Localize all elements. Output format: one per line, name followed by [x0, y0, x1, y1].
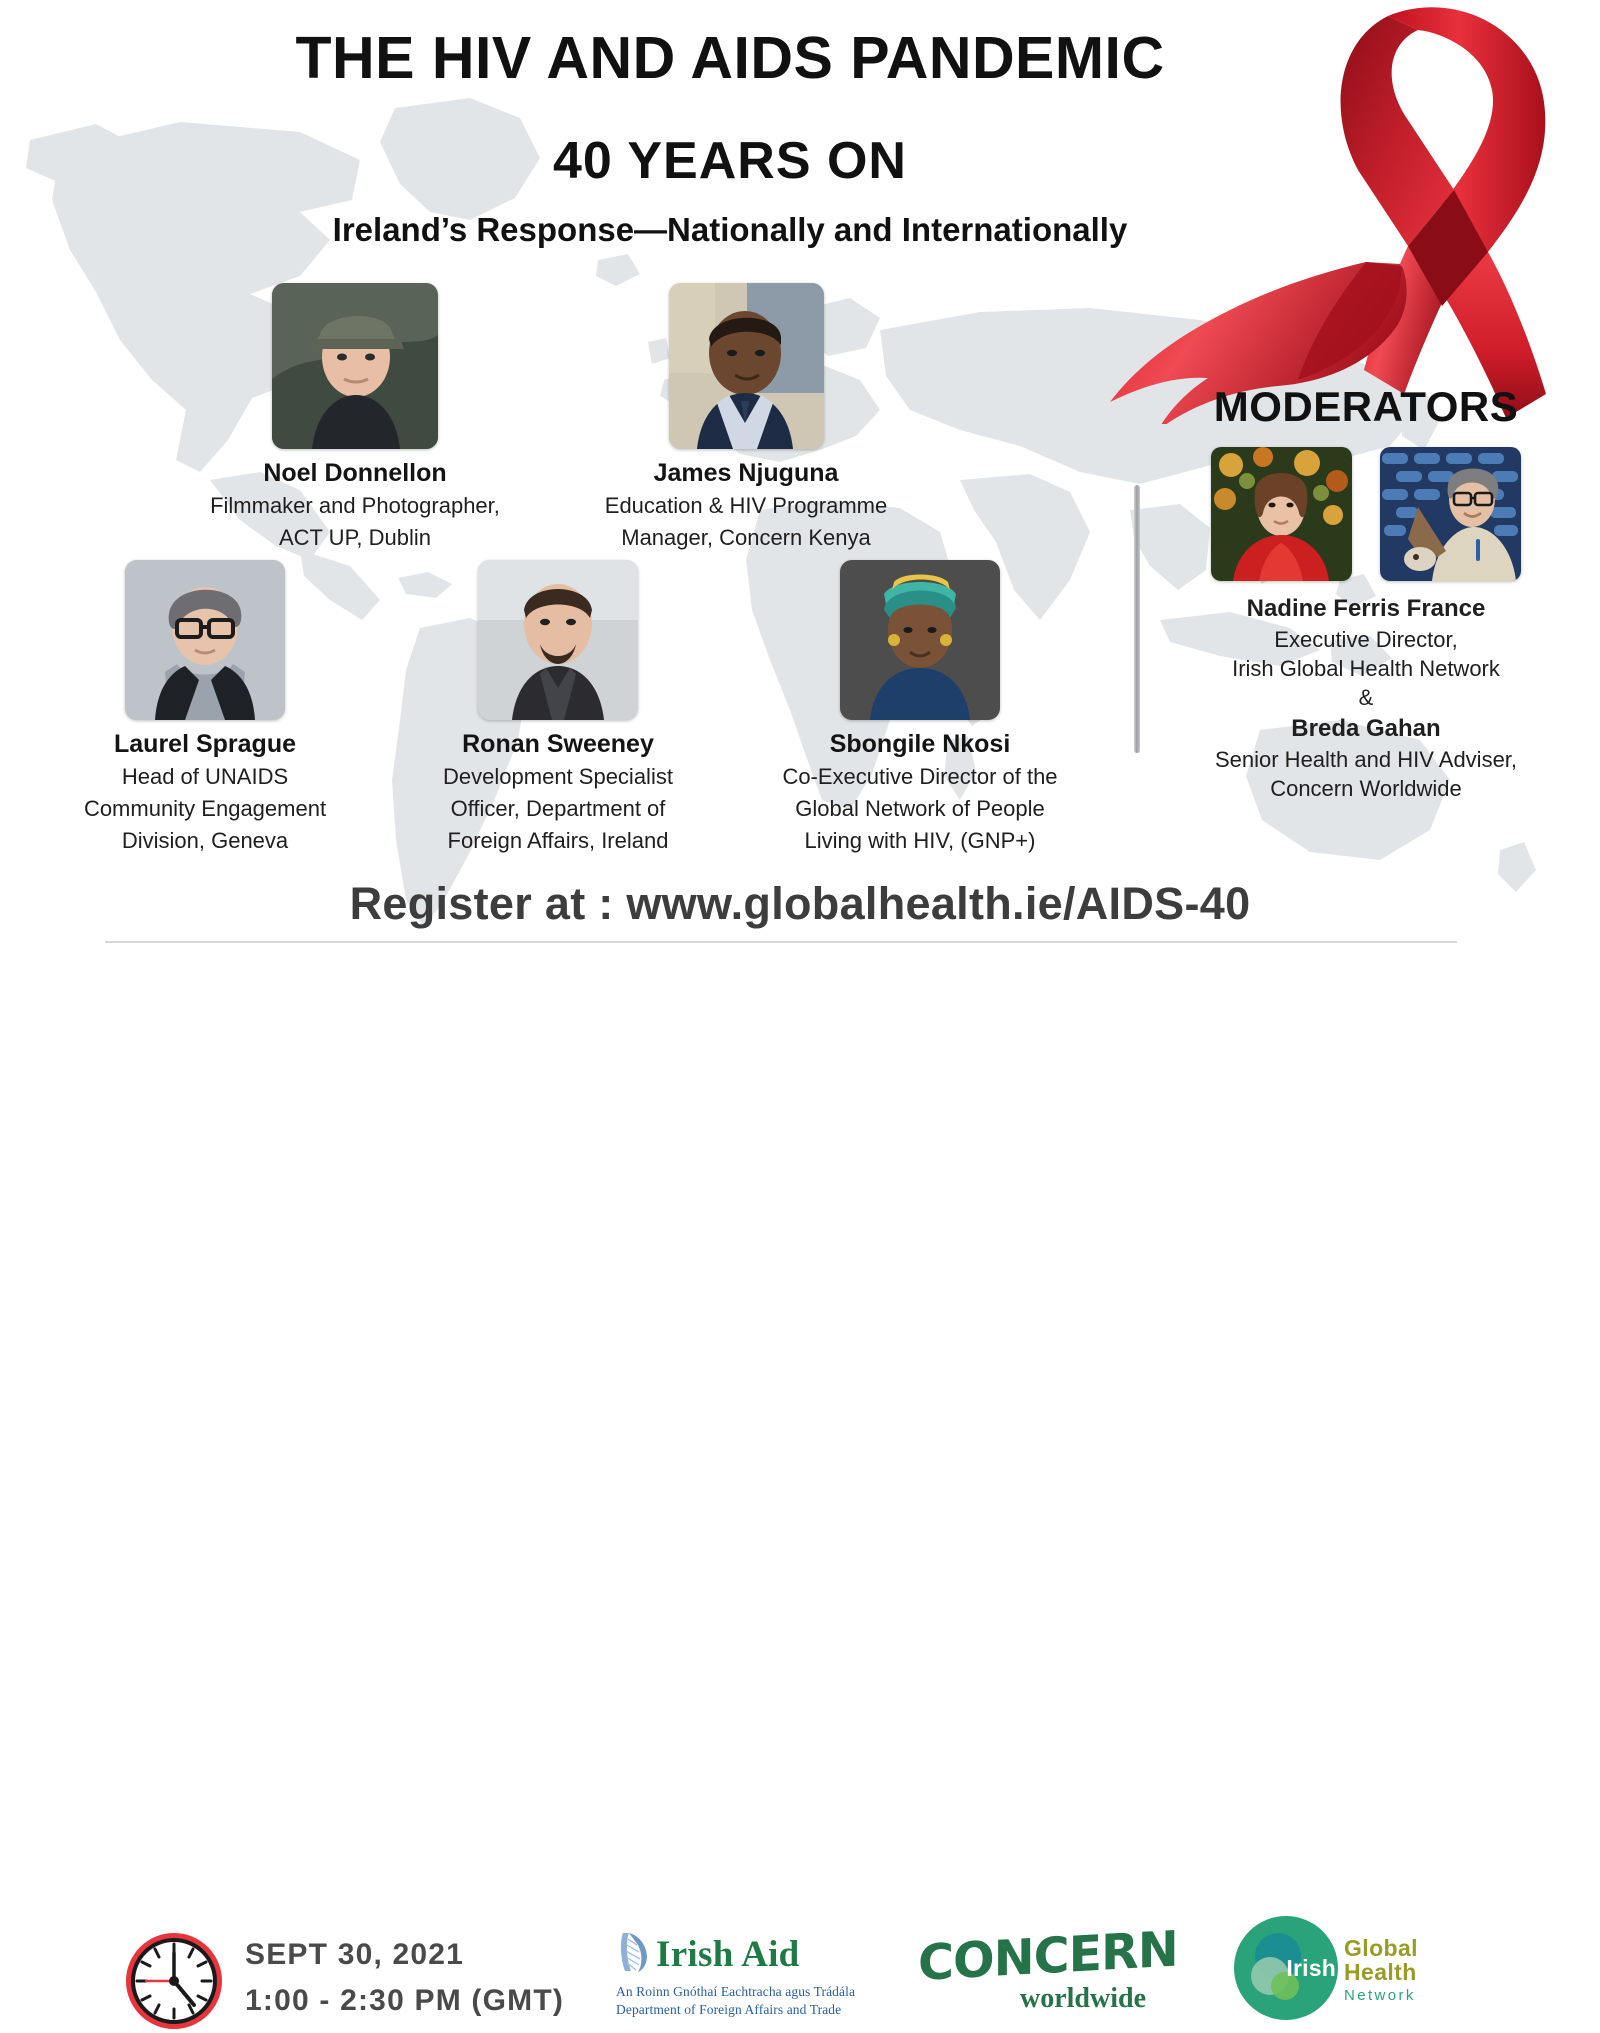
speaker-name: James Njuguna [586, 458, 906, 489]
speaker-role-line: Manager, Concern Kenya [586, 523, 906, 553]
speaker-role-line: Division, Geneva [40, 826, 370, 856]
irish-global-health-network-logo: Irish Global Health Network [1232, 1914, 1418, 2022]
speaker-role-line: ACT UP, Dublin [195, 523, 515, 553]
speaker-name: Sbongile Nkosi [755, 729, 1085, 760]
speaker-photo-noel-donnellon [272, 283, 438, 449]
speaker-role-line: Education & HIV Programme [586, 491, 906, 521]
irish-aid-line-ga: An Roinn Gnóthaí Eachtracha agus Trádála [616, 1983, 866, 2001]
page-title: THE HIV AND AIDS PANDEMIC [140, 28, 1320, 89]
speaker-card-laurel-sprague: Laurel Sprague Head of UNAIDS Community … [40, 560, 370, 856]
speaker-card-sbongile-nkosi: Sbongile Nkosi Co-Executive Director of … [755, 560, 1085, 856]
footer-divider [105, 941, 1457, 943]
harp-icon [616, 1930, 650, 1979]
ighn-health-word: Health [1344, 1961, 1418, 1985]
event-date: SEPT 30, 2021 [245, 1932, 564, 1978]
irish-aid-logo: Irish Aid An Roinn Gnóthaí Eachtracha ag… [616, 1930, 866, 2020]
clock-icon [122, 1929, 226, 2033]
moderator-name: Breda Gahan [1186, 713, 1546, 745]
irish-aid-name: Irish Aid [656, 1936, 800, 1973]
concern-worldwide-logo: CONCERN worldwide [918, 1932, 1168, 2015]
speaker-photo-ronan-sweeney [478, 560, 638, 720]
speaker-name: Noel Donnellon [195, 458, 515, 489]
speaker-role-line: Development Specialist [398, 762, 718, 792]
moderator-role-line: Executive Director, [1186, 625, 1546, 654]
speaker-photo-sbongile-nkosi [840, 560, 1000, 720]
moderator-role-line: Senior Health and HIV Adviser, [1186, 745, 1546, 774]
vertical-divider [1134, 485, 1140, 753]
moderator-photo-breda-gahan [1380, 447, 1521, 581]
event-time: 1:00 - 2:30 PM (GMT) [245, 1978, 564, 2024]
speaker-photo-james-njuguna [669, 283, 824, 449]
event-datetime: SEPT 30, 2021 1:00 - 2:30 PM (GMT) [245, 1932, 564, 2023]
concern-wordmark: CONCERN [918, 1925, 1168, 1988]
register-link[interactable]: Register at : www.globalhealth.ie/AIDS-4… [0, 878, 1600, 930]
speaker-role-line: Officer, Department of [398, 794, 718, 824]
speaker-role-line: Global Network of People [755, 794, 1085, 824]
speaker-name: Ronan Sweeney [398, 729, 718, 760]
moderator-separator: & [1186, 683, 1546, 712]
moderator-role-line: Irish Global Health Network [1186, 654, 1546, 683]
ighn-circles-icon: Irish [1232, 1914, 1340, 2022]
speaker-role-line: Filmmaker and Photographer, [195, 491, 515, 521]
speaker-photo-laurel-sprague [125, 560, 285, 720]
moderator-role-line: Concern Worldwide [1186, 774, 1546, 803]
headline-block: THE HIV AND AIDS PANDEMIC 40 YEARS ON Ir… [140, 28, 1320, 249]
moderators-heading: MODERATORS [1186, 383, 1546, 431]
speaker-name: Laurel Sprague [40, 729, 370, 760]
moderator-photos [1186, 447, 1546, 581]
moderator-details: Nadine Ferris France Executive Director,… [1186, 593, 1546, 803]
speaker-card-noel-donnellon: Noel Donnellon Filmmaker and Photographe… [195, 283, 515, 553]
ighn-network-word: Network [1344, 1988, 1418, 2004]
ighn-irish-word: Irish [1286, 1955, 1336, 1982]
speaker-card-ronan-sweeney: Ronan Sweeney Development Specialist Off… [398, 560, 718, 856]
page-subtitle: 40 YEARS ON [140, 131, 1320, 191]
speaker-role-line: Co-Executive Director of the [755, 762, 1085, 792]
speaker-card-james-njuguna: James Njuguna Education & HIV Programme … [586, 283, 906, 553]
moderators-section: MODERATORS [1186, 383, 1546, 803]
irish-aid-line-en: Department of Foreign Affairs and Trade [616, 2001, 866, 2019]
moderator-name: Nadine Ferris France [1186, 593, 1546, 625]
speaker-role-line: Living with HIV, (GNP+) [755, 826, 1085, 856]
page-tagline: Ireland’s Response—Nationally and Intern… [140, 211, 1320, 249]
moderator-photo-nadine-ferris-france [1211, 447, 1352, 581]
footer: SEPT 30, 2021 1:00 - 2:30 PM (GMT) Irish… [0, 952, 1600, 1131]
speaker-role-line: Head of UNAIDS [40, 762, 370, 792]
speaker-role-line: Foreign Affairs, Ireland [398, 826, 718, 856]
speaker-role-line: Community Engagement [40, 794, 370, 824]
ighn-global-word: Global [1344, 1937, 1418, 1961]
concern-subwordmark: worldwide [918, 1983, 1146, 2015]
